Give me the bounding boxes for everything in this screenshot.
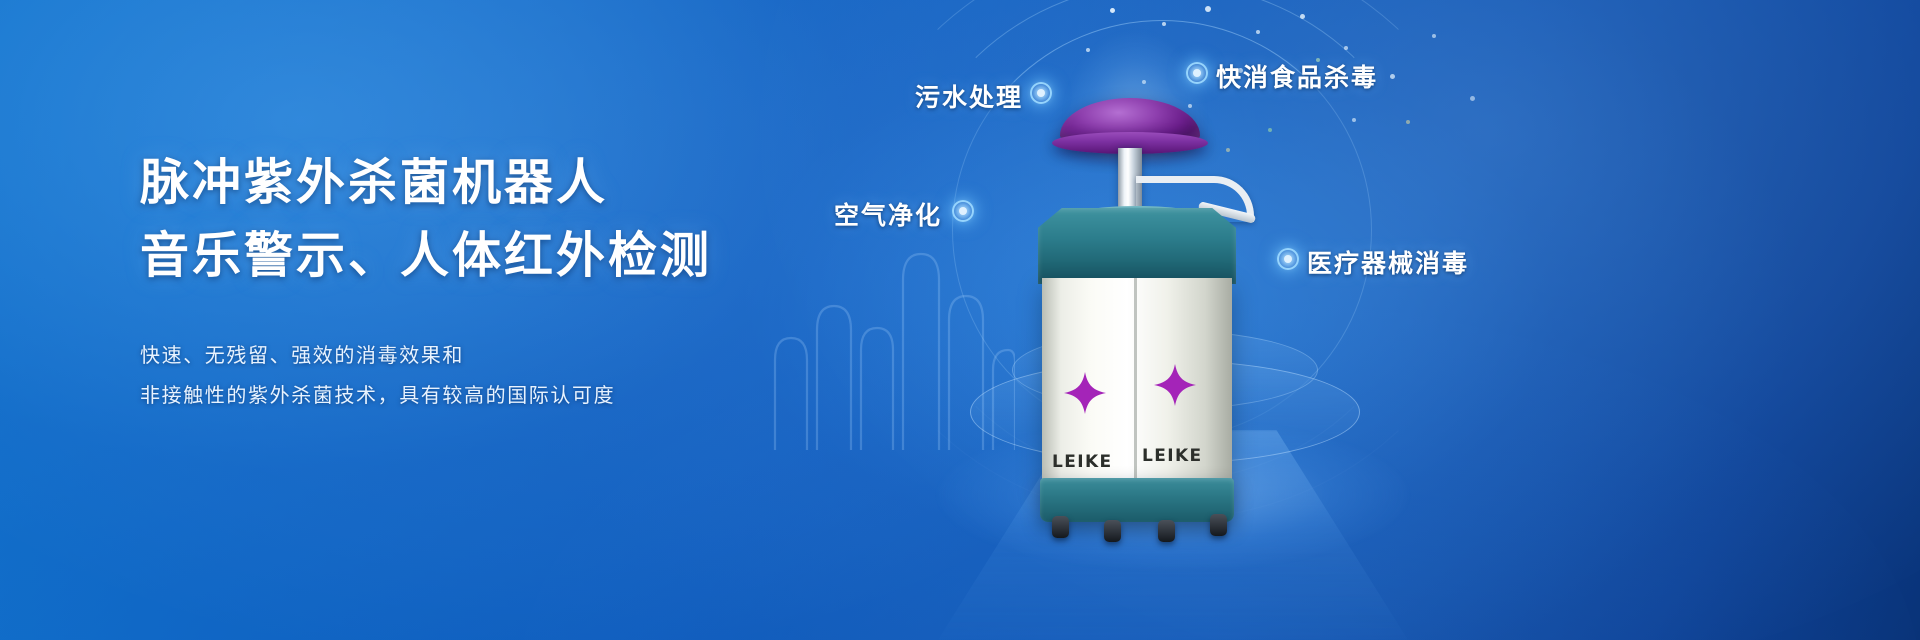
sparkle-particle bbox=[1390, 74, 1395, 79]
feature-node-medical-device-disinfection[interactable] bbox=[1277, 248, 1299, 270]
banner-copy-block: 脉冲紫外杀菌机器人 音乐警示、人体红外检测 快速、无残留、强效的消毒效果和 非接… bbox=[140, 150, 840, 415]
sparkle-particle bbox=[1110, 8, 1115, 13]
feature-label-fmcg-food-sterilization: 快消食品杀毒 bbox=[1216, 58, 1378, 94]
feature-node-fmcg-food-sterilization[interactable] bbox=[1186, 62, 1208, 84]
feature-label-air-purification: 空气净化 bbox=[834, 196, 942, 232]
headline-line-2: 音乐警示、人体红外检测 bbox=[140, 223, 840, 288]
device-brand-label-left: LEIKE bbox=[1052, 452, 1113, 472]
top-housing bbox=[1038, 208, 1236, 284]
feature-node-air-purification[interactable] bbox=[952, 200, 974, 222]
sparkle-particle bbox=[1300, 14, 1305, 19]
caster-wheel bbox=[1210, 514, 1227, 536]
device-base-housing bbox=[1040, 478, 1234, 522]
sparkle-particle bbox=[1086, 48, 1090, 52]
sparkle-emblem-icon bbox=[1152, 362, 1198, 408]
sparkle-particle bbox=[1256, 30, 1260, 34]
subtitle-line-1: 快速、无残留、强效的消毒效果和 bbox=[140, 335, 840, 375]
sparkle-particle bbox=[1344, 46, 1348, 50]
sparkle-particle bbox=[1205, 6, 1211, 12]
caster-wheel bbox=[1158, 520, 1175, 542]
caster-wheel bbox=[1052, 516, 1069, 538]
device-body-seam bbox=[1134, 278, 1137, 486]
feature-label-medical-device-disinfection: 医疗器械消毒 bbox=[1307, 244, 1469, 280]
uv-sterilization-robot: LEIKE LEIKE bbox=[1000, 80, 1330, 500]
sparkle-particle bbox=[1406, 120, 1410, 124]
sparkle-emblem-icon bbox=[1062, 370, 1108, 416]
banner-subtitle-block: 快速、无残留、强效的消毒效果和 非接触性的紫外杀菌技术，具有较高的国际认可度 bbox=[140, 335, 840, 415]
feature-node-wastewater-treatment[interactable] bbox=[1030, 82, 1052, 104]
subtitle-line-2: 非接触性的紫外杀菌技术，具有较高的国际认可度 bbox=[140, 375, 840, 415]
feature-label-wastewater-treatment: 污水处理 bbox=[915, 78, 1023, 114]
sparkle-particle bbox=[1352, 118, 1356, 122]
headline-line-1: 脉冲紫外杀菌机器人 bbox=[140, 150, 840, 215]
sparkle-particle bbox=[1470, 96, 1475, 101]
caster-wheel bbox=[1104, 520, 1121, 542]
hero-banner: LEIKE LEIKE 污水处理 快消食品杀毒 空气净化 医疗器械消毒 脉冲紫外… bbox=[0, 0, 1920, 640]
device-brand-label-right: LEIKE bbox=[1142, 446, 1203, 466]
sparkle-particle bbox=[1432, 34, 1436, 38]
sparkle-particle bbox=[1162, 22, 1166, 26]
